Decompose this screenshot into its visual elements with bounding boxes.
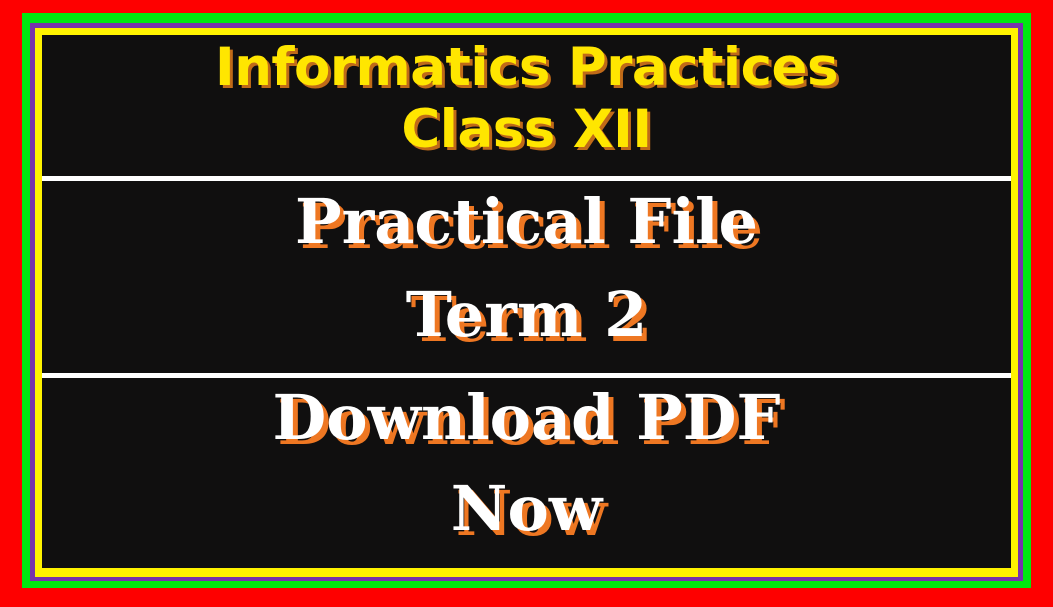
poster-body-line-1: Practical File [42,191,1011,253]
poster-title-line-2: Class XII [42,103,1011,156]
divider-rule-bottom [42,373,1011,378]
poster-title-line-1: Informatics Practices [42,41,1011,94]
poster-border-yellow: Informatics Practices Class XII Practica… [35,28,1018,577]
poster-border-outer-red: Informatics Practices Class XII Practica… [0,0,1053,607]
poster-border-purple: Informatics Practices Class XII Practica… [30,23,1023,581]
poster-body-line-2: Term 2 [42,284,1011,346]
poster-body-line-4: Now [42,478,1011,540]
poster-content-area: Informatics Practices Class XII Practica… [42,35,1011,568]
divider-rule-top [42,176,1011,181]
poster-body-line-3: Download PDF [42,387,1011,449]
poster-border-green: Informatics Practices Class XII Practica… [22,13,1031,588]
